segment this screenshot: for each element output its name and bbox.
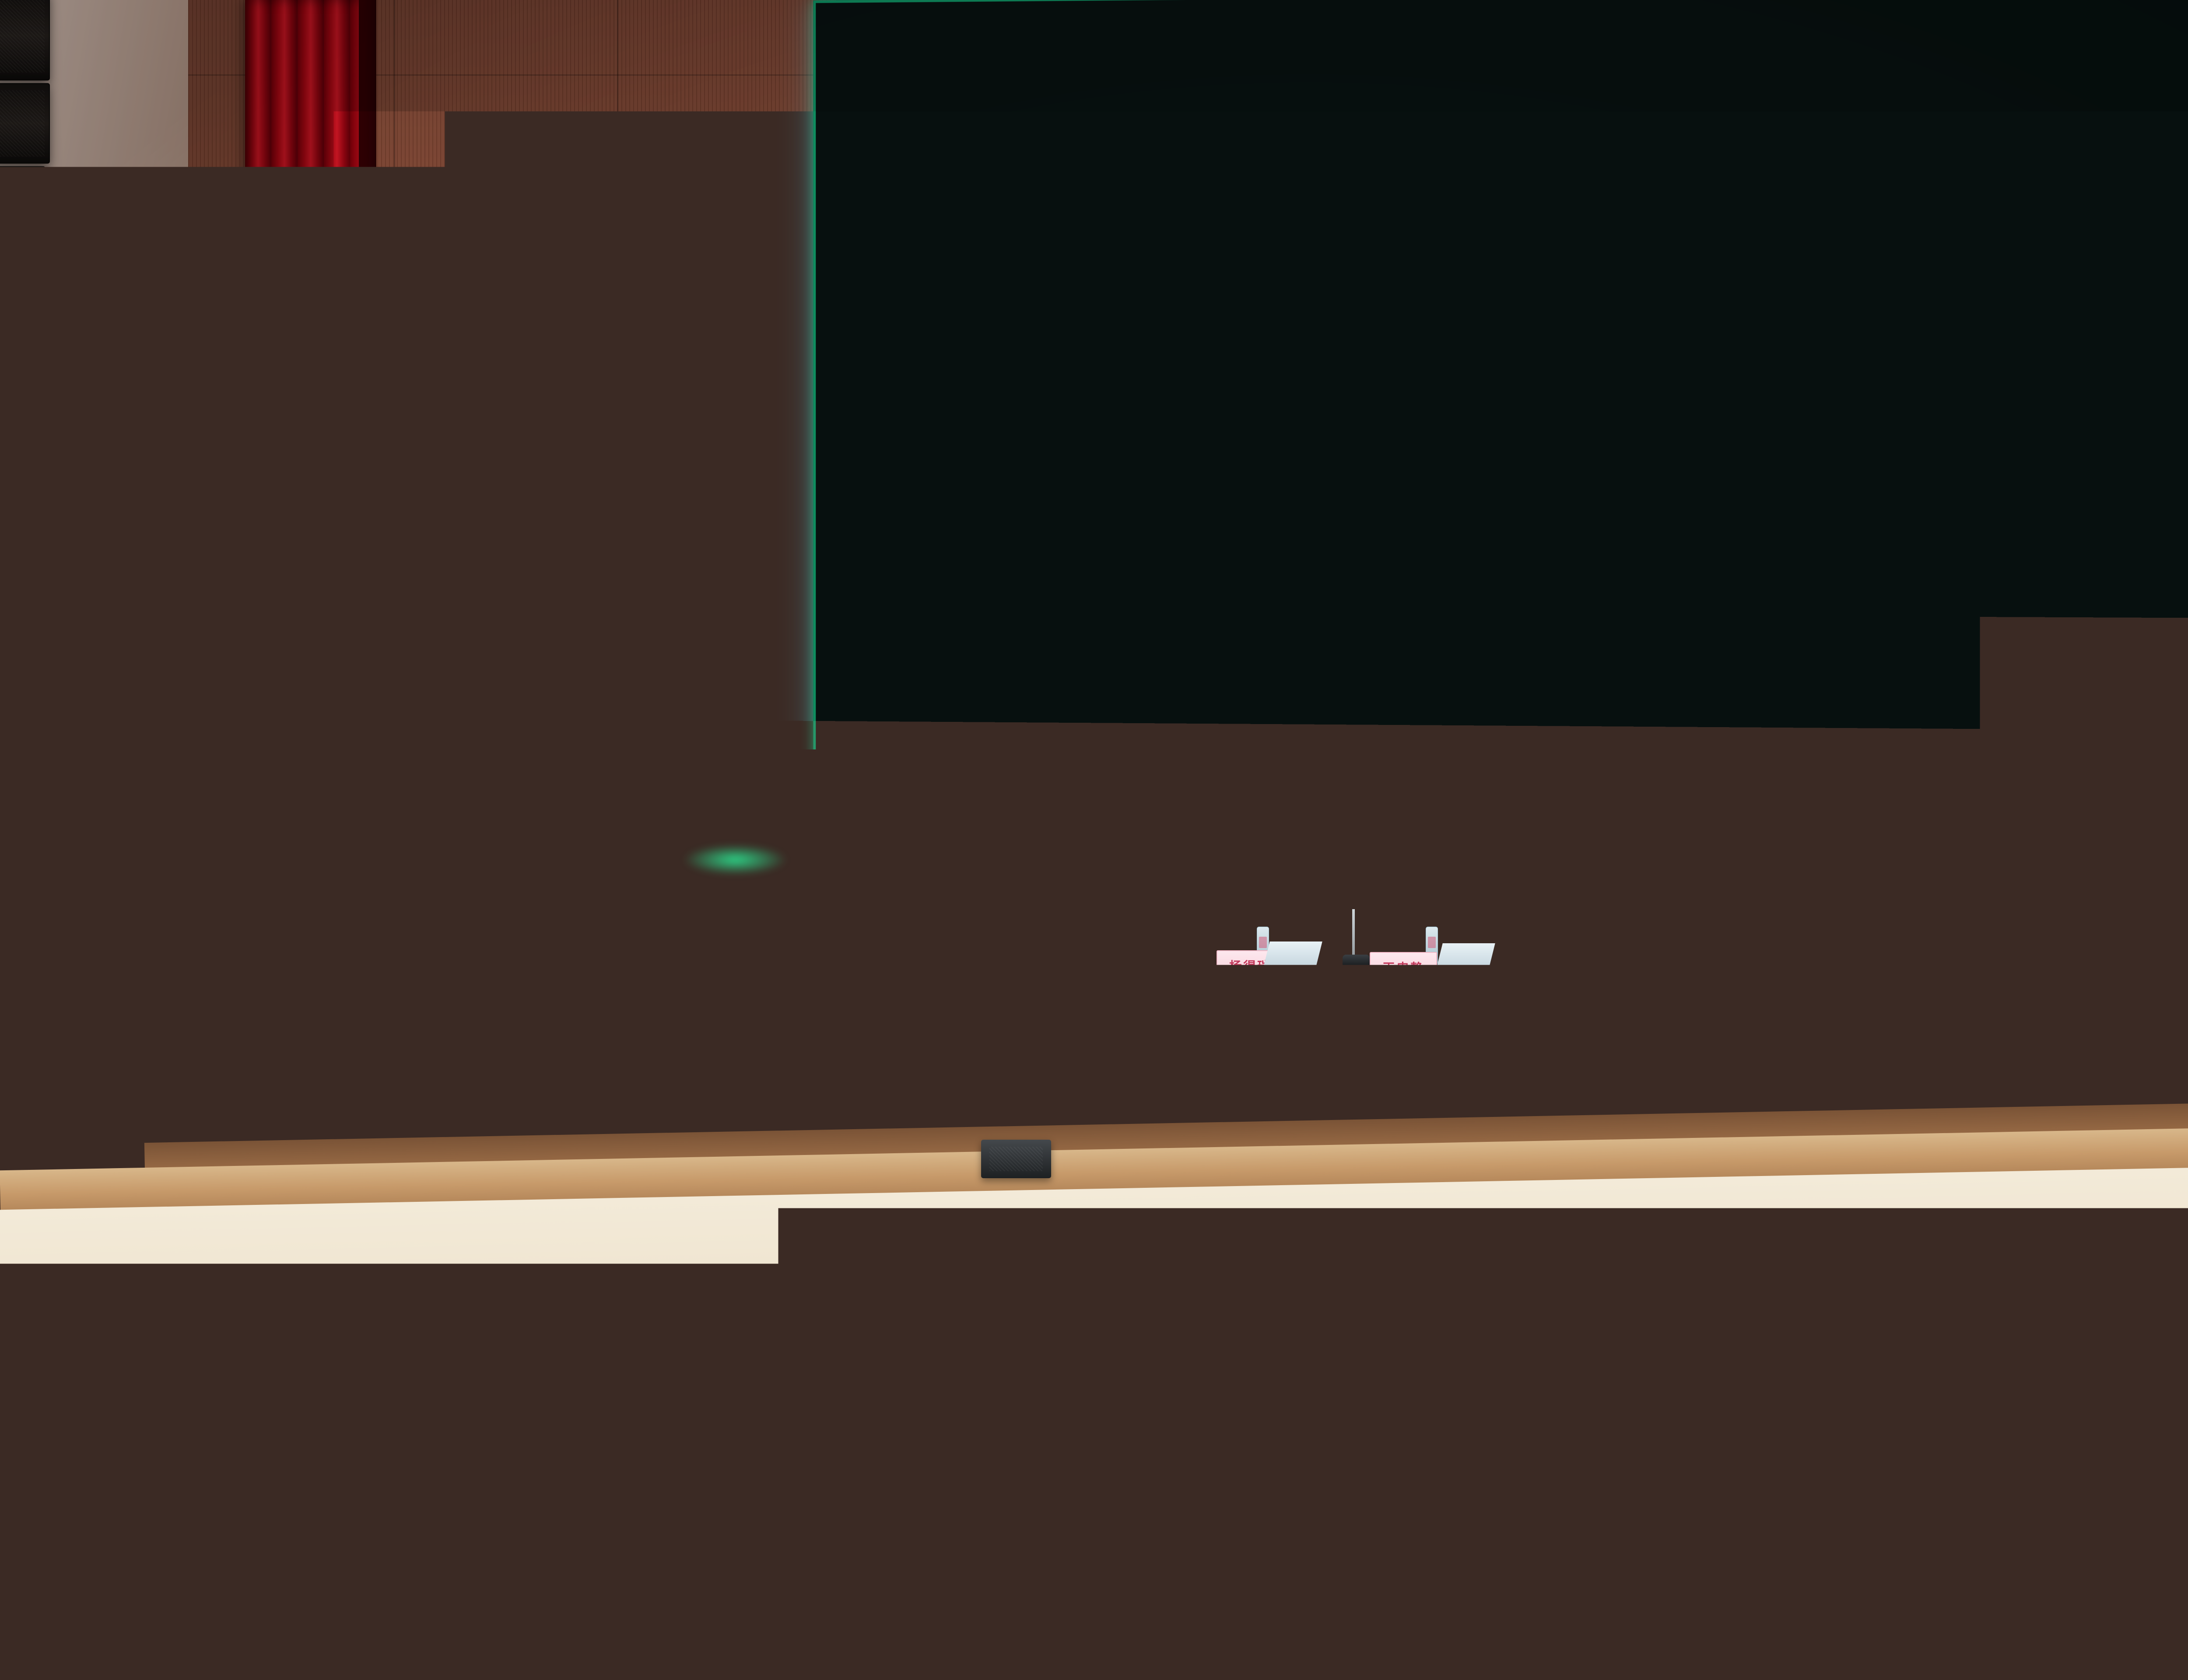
audience-person-head	[351, 1406, 403, 1467]
computer-mouse[interactable]	[1064, 957, 1084, 968]
lectern-podium: 宁夏大学 1958 NINGXIA UNIVERSITY	[757, 862, 880, 1067]
university-emblem-icon: 1958 NINGXIA UNIVERSITY	[797, 989, 839, 1031]
audience-person-head	[510, 1536, 574, 1603]
side-monitor-status-tag: 每汛在几事预品	[0, 486, 60, 501]
side-monitor-minimize-icon	[154, 484, 161, 487]
audience-person-head	[414, 1471, 470, 1529]
side-wall-monitor[interactable]: 每汛在几事预品 正在讲话 主讲人 短缺。夏汛冬枯，北缺南丰，时空分布极不均衡。	[0, 459, 294, 749]
chart-xtick-1960: 1960	[1746, 634, 1773, 648]
seat-back-wood	[392, 1675, 474, 1680]
chart-ytick-5000: 5000	[1695, 534, 1722, 548]
side-monitor-mount-bracket	[289, 591, 309, 643]
audience-person-head	[431, 1412, 479, 1463]
seat-cushion	[9, 1444, 80, 1466]
audience-person-head	[290, 1354, 336, 1407]
audience-person-head	[518, 1403, 572, 1469]
audience-seat	[284, 1645, 373, 1680]
chart-xtick-1990: 1990	[1994, 636, 2021, 650]
seat-cushion	[898, 1387, 964, 1407]
chart-legend-line-1	[1839, 434, 1876, 435]
side-monitor-menu-icon	[175, 482, 181, 487]
audience-person-head	[103, 1402, 158, 1469]
stage-curtain	[245, 0, 359, 901]
seat-cushion	[794, 1577, 877, 1603]
chart-x-axis-ticks: 1956196019651970197519801985199019952000…	[1629, 185, 2188, 188]
chart-canvas: 水资源总量（亿m³） 年份 05000100001500020000250003…	[1629, 185, 2188, 678]
chart-series-label-north: 北方6区	[2023, 525, 2075, 544]
seat-cushion	[757, 1444, 828, 1466]
chart-xtick-1965: 1965	[1788, 634, 1814, 648]
table-panel-right	[1279, 1001, 1500, 1134]
stage-wood-floor	[188, 890, 713, 1170]
seat-back-wood	[811, 1675, 893, 1680]
seat-cushion	[284, 1645, 373, 1673]
seat-back-wood	[0, 1675, 55, 1680]
seat-cushion	[497, 1507, 573, 1530]
audience-person-head	[316, 1529, 377, 1607]
chart-ytick-25000: 25000	[1688, 311, 1722, 325]
desk-monitor-right	[1437, 943, 1495, 967]
audience-person-head	[928, 1598, 992, 1673]
audience-person-head	[594, 1468, 651, 1531]
seat-cushion	[591, 1444, 662, 1466]
table-strip-top-right	[1275, 994, 1502, 998]
side-monitor-screen: 每汛在几事预品 正在讲话 主讲人 短缺。夏汛冬枯，北缺南丰，时空分布极不均衡。	[0, 464, 289, 743]
audience-person-head	[196, 1602, 259, 1671]
side-monitor-mic-icon	[155, 500, 159, 507]
figure-left-caption: 2022年全国年降水等值线	[875, 678, 1523, 717]
chart-y-axis-ticks: 05000100001500020000250003000035000	[1629, 185, 2188, 188]
chart-series-全国	[1728, 210, 2188, 335]
audience-person-head	[711, 1540, 765, 1600]
side-monitor-vc-status: 正在讲话 主讲人	[165, 497, 202, 507]
audience-person-head	[600, 1348, 649, 1410]
microphone-stand-left	[1199, 895, 1202, 965]
chart-series-label-south: 南方4区	[2016, 392, 2068, 411]
seat-cushion	[74, 1645, 163, 1673]
seat-cushion	[988, 1577, 1071, 1603]
chart-xtick-1956: 1956	[1714, 634, 1740, 647]
chart-ytick-0: 0	[1715, 590, 1722, 604]
audience-person-head	[445, 1351, 492, 1409]
chart-xtick-1970: 1970	[1829, 635, 1855, 648]
microphone-base-right	[1343, 955, 1370, 968]
seat-cushion	[493, 1645, 582, 1673]
podium-school-name: 宁夏大学	[757, 870, 880, 894]
audience-person-head	[422, 1536, 479, 1603]
audience-person-head	[718, 1602, 780, 1671]
seat-cushion	[205, 1387, 270, 1407]
chart-legend-label-2: 年代平均值	[1900, 461, 1967, 479]
chart-xtick-1985: 1985	[1953, 635, 1979, 649]
table-strip-top-left	[1021, 994, 1244, 998]
seat-cushion	[115, 1577, 197, 1603]
map-north-arrow-icon	[1320, 213, 1327, 231]
audience-person-head	[857, 1413, 905, 1463]
seat-cushion	[175, 1444, 246, 1466]
audience-person-head	[228, 1540, 282, 1600]
audience-person-head	[135, 1357, 179, 1405]
audience-person-head	[984, 1348, 1032, 1410]
wall-mark-a	[656, 744, 668, 755]
audience-person-head	[692, 1466, 745, 1533]
audience-person-head	[829, 1351, 876, 1408]
figure-precipitation-map	[875, 189, 1523, 674]
emblem-english-name: NINGXIA UNIVERSITY	[797, 1024, 839, 1028]
figure-right-caption: 1956—2022年全国及南北方地区水资源总量变化	[1629, 683, 2188, 722]
desk-pen-tray	[1010, 962, 1036, 969]
presenter-laptop[interactable]	[1081, 927, 1155, 976]
audience-person-head	[859, 1471, 914, 1529]
ceiling-speaker-lower	[0, 166, 46, 238]
seat-cushion	[1017, 1645, 1106, 1673]
audience-person-head	[1105, 1408, 1150, 1466]
audience-person-head	[235, 1465, 288, 1533]
chart-legend-line-2	[1839, 472, 1876, 474]
ceiling-speaker-mid	[0, 83, 50, 164]
side-monitor-vc-overlay: 正在讲话 主讲人	[149, 476, 268, 512]
audience-person-head	[276, 1407, 322, 1466]
map-legend-box	[913, 581, 999, 647]
seat-cushion	[139, 1507, 215, 1530]
laptop-lid	[1084, 927, 1152, 969]
chart-xtick-2000: 2000	[2077, 636, 2104, 650]
ceiling-speaker-upper	[0, 0, 50, 80]
chart-series-svg	[1728, 205, 2188, 599]
chart-ytick-35000: 35000	[1688, 200, 1722, 214]
audience-person-head	[1101, 1533, 1159, 1604]
seat-cushion	[924, 1444, 995, 1466]
audience-person-head	[773, 1464, 833, 1533]
seat-cushion	[318, 1507, 394, 1530]
emblem-year: 1958	[797, 1018, 839, 1022]
audience-person-head	[820, 1600, 877, 1673]
seat-back-wood	[706, 1675, 789, 1680]
seat-back-wood	[287, 1675, 369, 1680]
figure-water-resource-chart: 水资源总量（亿m³） 年份 05000100001500020000250003…	[1629, 185, 2188, 678]
seat-back-wood	[182, 1675, 265, 1680]
chart-legend-label-1: 多年平均值	[1900, 421, 1967, 439]
chart-xtick-1980: 1980	[1911, 635, 1938, 649]
podium-neck	[774, 902, 863, 923]
seat-back-wood	[497, 1675, 579, 1680]
audience-person-head	[755, 1354, 806, 1407]
audience-seat	[74, 1645, 163, 1680]
audience-person-head	[603, 1594, 671, 1676]
table-panel-left	[1025, 1001, 1241, 1134]
seat-back-wood	[78, 1675, 160, 1680]
side-monitor-dock-icon	[254, 479, 261, 484]
wall-mark-b	[740, 744, 751, 755]
chart-xtick-1975: 1975	[1870, 635, 1897, 649]
chart-xtick-2010: 2010	[2161, 636, 2188, 650]
chart-xtick-1995: 1995	[2036, 636, 2062, 650]
audience-seat	[1017, 1645, 1106, 1680]
side-monitor-maximize-icon	[165, 482, 172, 488]
chart-series-label-national: 全国	[2023, 245, 2052, 265]
lecture-hall-scene: 一、水资源管理的成效 中国人口众多，水资源相对短缺。夏汛冬枯，北缺南丰，时空分布…	[0, 0, 2188, 1680]
audience-person-head	[1039, 1468, 1096, 1531]
chart-plot-area	[1727, 205, 2188, 600]
audience-seat	[493, 1645, 582, 1680]
chart-series-北方6区	[1728, 518, 2188, 553]
chart-ytick-15000: 15000	[1688, 423, 1722, 437]
slide-subtitle: 中国人口众多，水资源相对短缺。夏汛冬枯，北缺南丰，时空分布极不均衡。	[857, 114, 2188, 164]
audience-person-head	[674, 1354, 719, 1407]
chart-ytick-10000: 10000	[1688, 478, 1722, 492]
audience-person-head	[62, 1351, 109, 1409]
presenter-sweater	[1163, 899, 1172, 928]
audience-person-head	[27, 1535, 91, 1603]
podium-body: 1958 NINGXIA UNIVERSITY	[782, 923, 855, 1059]
seat-cushion	[943, 1507, 1020, 1530]
chart-ytick-30000: 30000	[1688, 255, 1722, 269]
desk-monitor-left	[1264, 941, 1322, 965]
slide-title: 一、水资源管理的成效	[887, 25, 1264, 80]
microphone-base-left	[1189, 955, 1217, 968]
audience-person-head	[690, 1407, 736, 1466]
seat-back-wood	[915, 1675, 998, 1680]
wall-speaker-left-floor	[0, 1074, 118, 1249]
seat-cushion	[359, 1387, 424, 1407]
audience-person-head	[906, 1536, 962, 1602]
stage-monitor-speaker-left	[981, 1140, 1051, 1178]
chart-xtick-2005: 2005	[2119, 636, 2146, 650]
nameplate-right: 王忠静	[1370, 952, 1437, 983]
audience-person-head	[1012, 1410, 1062, 1464]
presentation-slide: 一、水资源管理的成效 中国人口众多，水资源相对短缺。夏汛冬枯，北缺南丰，时空分布…	[819, 0, 2188, 803]
audience-person-head	[406, 1598, 471, 1674]
seat-back-wood	[1020, 1675, 1103, 1680]
audience-person-head	[68, 1469, 119, 1531]
chart-series-南方4区	[1728, 278, 2188, 396]
chart-ytick-20000: 20000	[1688, 367, 1722, 381]
